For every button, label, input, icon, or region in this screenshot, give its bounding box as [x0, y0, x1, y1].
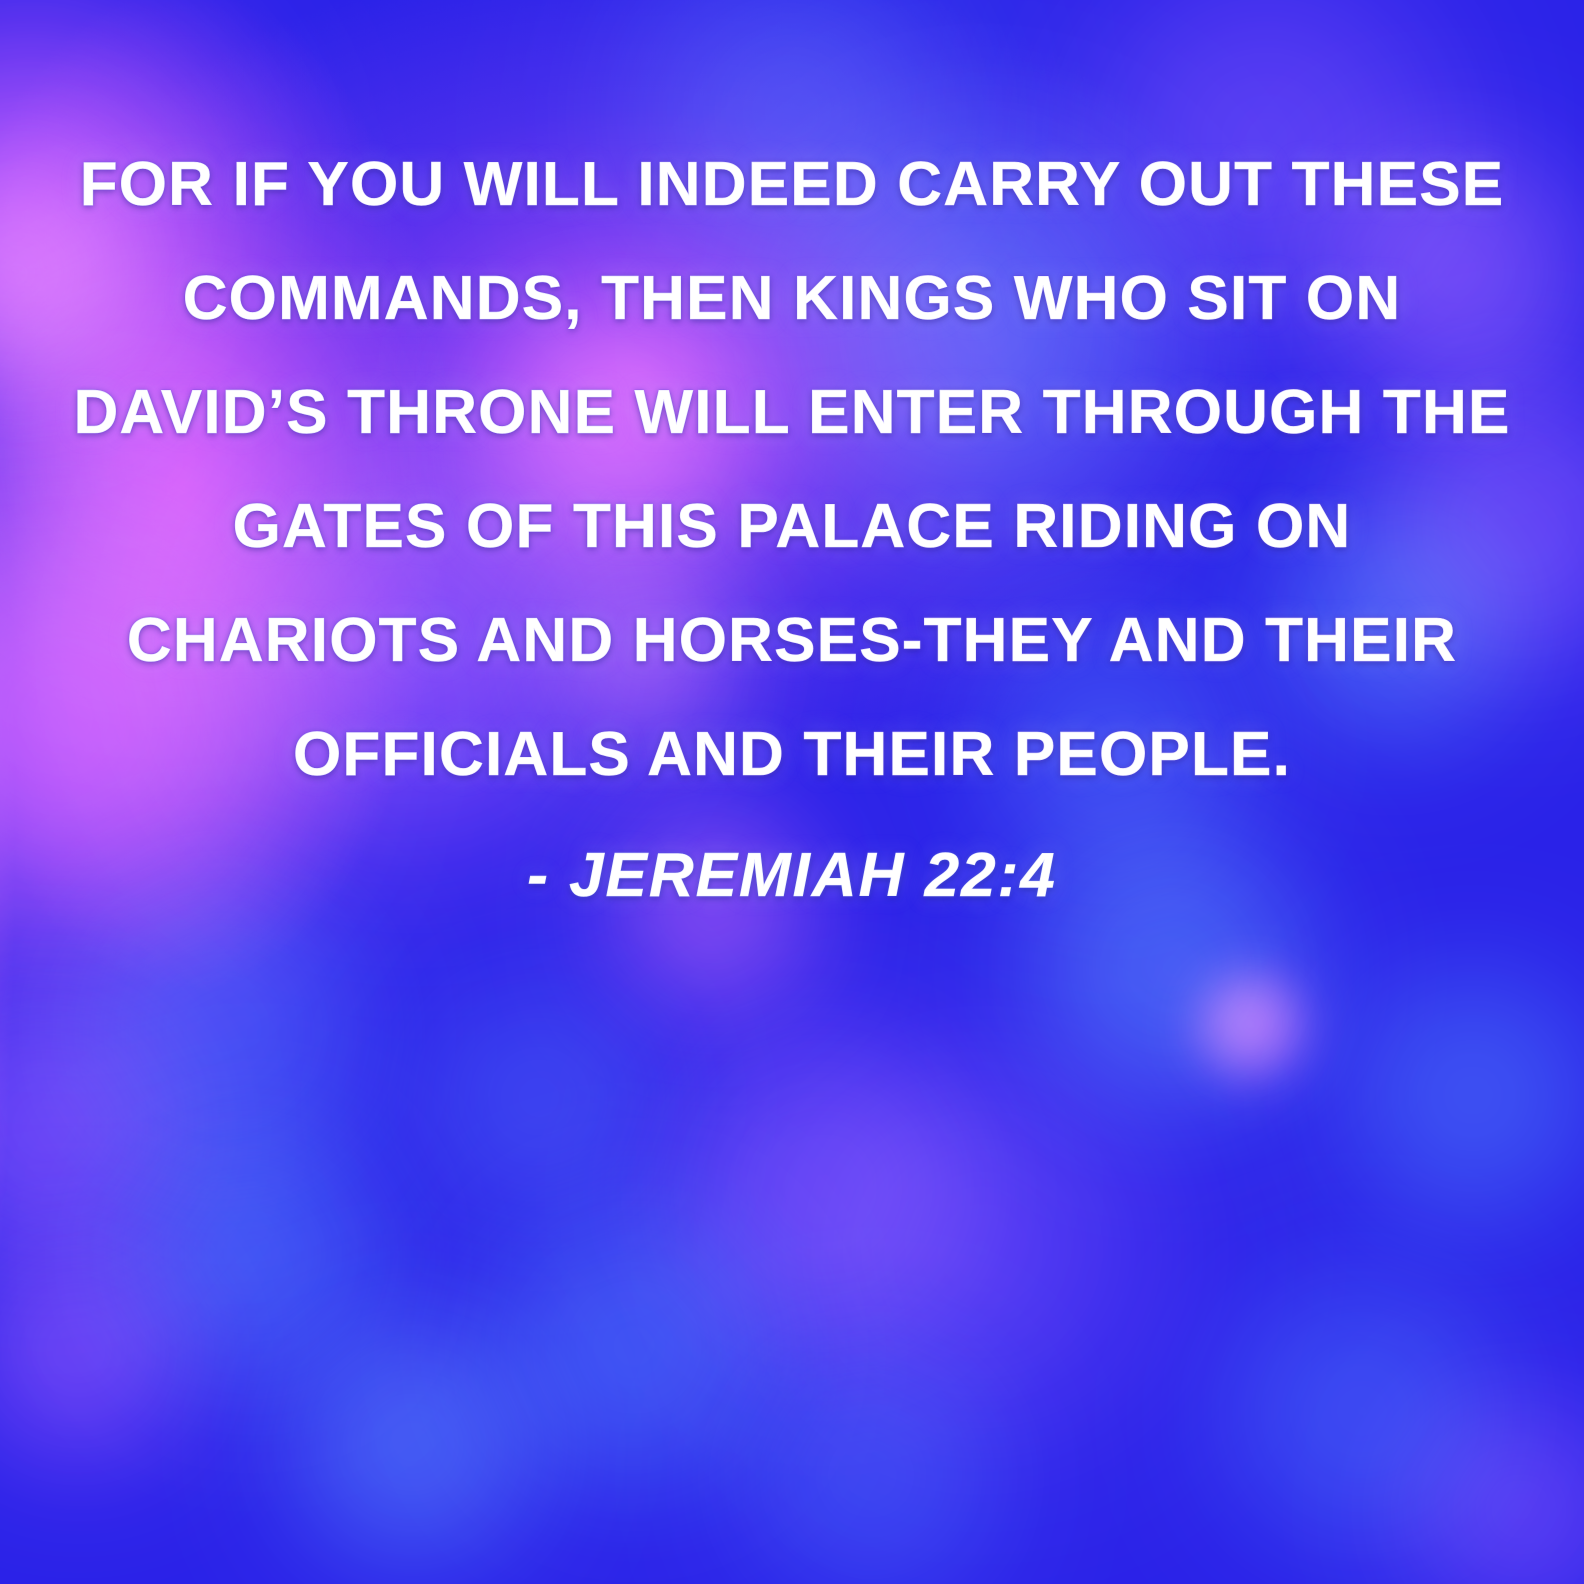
verse-line: DAVID’S THRONE WILL ENTER THROUGH THE: [70, 356, 1514, 470]
verse-image: FOR IF YOU WILL INDEED CARRY OUT THESE C…: [0, 0, 1584, 1584]
verse-body: FOR IF YOU WILL INDEED CARRY OUT THESE C…: [70, 128, 1514, 812]
verse-card: FOR IF YOU WILL INDEED CARRY OUT THESE C…: [0, 0, 1584, 1584]
verse-line: COMMANDS, THEN KINGS WHO SIT ON: [70, 242, 1514, 356]
verse-line: CHARIOTS AND HORSES-THEY AND THEIR: [70, 584, 1514, 698]
verse-line: FOR IF YOU WILL INDEED CARRY OUT THESE: [70, 128, 1514, 242]
verse-line: OFFICIALS AND THEIR PEOPLE.: [70, 698, 1514, 812]
verse-line: GATES OF THIS PALACE RIDING ON: [70, 470, 1514, 584]
verse-reference: - JEREMIAH 22:4: [70, 840, 1514, 912]
